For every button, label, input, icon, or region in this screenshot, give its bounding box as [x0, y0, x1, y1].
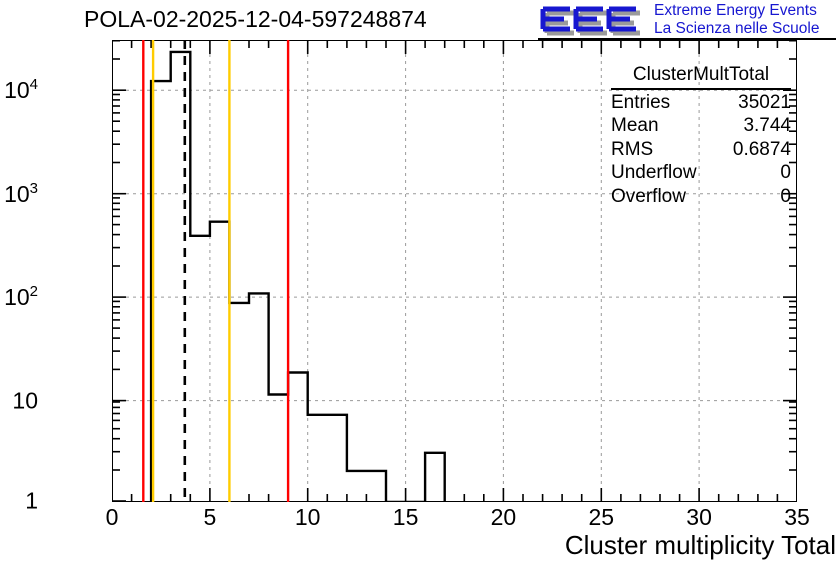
y-tick-label-100: 102: [4, 283, 38, 311]
eee-logo-mark: [538, 3, 648, 37]
stats-row-underflow: Underflow 0: [607, 161, 795, 185]
x-axis-ticks-top: [112, 40, 797, 54]
stats-value-underflow: 0: [780, 161, 791, 185]
logo-line-1: Extreme Energy Events: [654, 2, 819, 20]
x-tick-label-25: 25: [589, 504, 615, 531]
logo-line-2: La Scienza nelle Scuole: [654, 20, 819, 38]
x-tick-label-20: 20: [491, 504, 517, 531]
stats-row-rms: RMS 0.6874: [607, 138, 795, 162]
y-tick-label-1: 1: [25, 488, 38, 515]
stats-value-entries: 35021: [738, 91, 791, 115]
stats-value-overflow: 0: [780, 185, 791, 209]
page-title: POLA-02-2025-12-04-597248874: [84, 6, 427, 33]
y-tick-label-1000: 103: [4, 180, 38, 208]
y-tick-label-10: 10: [12, 387, 38, 414]
x-axis-ticks-bottom: [112, 488, 797, 502]
logo-text-block: Extreme Energy Events La Scienza nelle S…: [654, 2, 819, 37]
stats-box: ClusterMultTotal Entries 35021 Mean 3.74…: [607, 63, 795, 208]
y-tick-label-10000: 104: [4, 76, 38, 104]
stats-header: ClusterMultTotal: [611, 63, 791, 90]
stats-row-overflow: Overflow 0: [607, 185, 795, 209]
stats-label-mean: Mean: [611, 114, 659, 138]
stats-value-mean: 3.744: [743, 114, 791, 138]
x-tick-label-30: 30: [686, 504, 712, 531]
stats-label-overflow: Overflow: [611, 185, 686, 209]
stats-row-mean: Mean 3.744: [607, 114, 795, 138]
x-tick-label-5: 5: [203, 504, 216, 531]
threshold-marker-lines: [143, 40, 288, 502]
stats-label-entries: Entries: [611, 91, 670, 115]
histogram-canvas: POLA-02-2025-12-04-597248874 Extreme Ene…: [0, 0, 836, 572]
x-tick-label-35: 35: [784, 504, 810, 531]
x-tick-label-15: 15: [393, 504, 419, 531]
histogram-trace: [151, 52, 445, 502]
stats-label-rms: RMS: [611, 138, 653, 162]
stats-row-entries: Entries 35021: [607, 91, 795, 115]
stats-value-rms: 0.6874: [733, 138, 791, 162]
x-tick-label-0: 0: [106, 504, 119, 531]
x-tick-label-10: 10: [295, 504, 321, 531]
y-axis-ticks-left: [112, 41, 126, 501]
stats-label-underflow: Underflow: [611, 161, 697, 185]
eee-logo: Extreme Energy Events La Scienza nelle S…: [538, 2, 834, 38]
x-axis-title: Cluster multiplicity Total: [565, 530, 836, 561]
